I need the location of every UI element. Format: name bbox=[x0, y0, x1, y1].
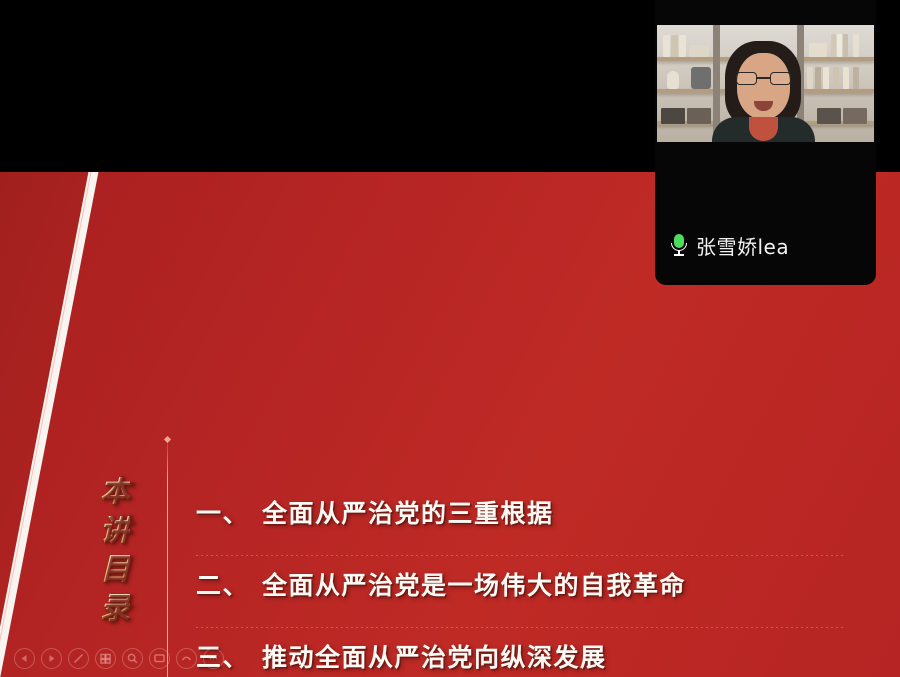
microphone-icon bbox=[671, 234, 687, 256]
book bbox=[853, 34, 859, 57]
participant-name-bar: 张雪娇lea bbox=[655, 205, 876, 285]
book bbox=[679, 35, 686, 57]
glasses-lens-right bbox=[770, 72, 791, 85]
participant-name: 张雪娇lea bbox=[696, 231, 789, 260]
toc-item-3: 三、推动全面从严治党向纵深发展 bbox=[196, 638, 607, 674]
vertical-title-char-1: 本 bbox=[100, 477, 130, 507]
slide-toolbar[interactable] bbox=[14, 648, 224, 669]
list-item: 二、全面从严治党是一场伟大的自我革命 bbox=[196, 562, 856, 634]
slide-vertical-title: 本 讲 目 录 bbox=[88, 477, 142, 624]
storage-box bbox=[661, 108, 685, 124]
participant-video-panel[interactable]: 张雪娇lea bbox=[655, 0, 876, 285]
book bbox=[823, 67, 829, 89]
list-item: 三、推动全面从严治党向纵深发展 bbox=[196, 634, 856, 677]
list-item: 一、全面从严治党的三重根据 bbox=[196, 490, 856, 562]
book bbox=[671, 35, 678, 57]
book bbox=[843, 34, 848, 57]
book bbox=[843, 67, 849, 89]
divider-bar bbox=[167, 441, 168, 677]
screen-icon[interactable] bbox=[149, 648, 170, 669]
vase bbox=[667, 71, 679, 89]
glasses-lens-left bbox=[736, 72, 757, 85]
vertical-divider bbox=[166, 435, 169, 677]
eyeglasses-icon bbox=[736, 72, 791, 85]
toc-item-3-text: 推动全面从严治党向纵深发展 bbox=[262, 643, 607, 672]
storage-box bbox=[843, 108, 867, 124]
book bbox=[663, 35, 670, 57]
storage-box bbox=[687, 108, 711, 124]
toc-item-2-number: 二、 bbox=[196, 571, 249, 600]
table-of-contents: 一、全面从严治党的三重根据 二、全面从严治党是一场伟大的自我革命 三、推动全面从… bbox=[196, 490, 856, 677]
book bbox=[853, 67, 859, 89]
book bbox=[689, 45, 709, 57]
book bbox=[809, 43, 827, 57]
book bbox=[815, 67, 821, 89]
pen-icon[interactable] bbox=[68, 648, 89, 669]
toc-separator bbox=[196, 627, 846, 628]
magnifier-icon[interactable] bbox=[122, 648, 143, 669]
toc-item-1: 一、全面从严治党的三重根据 bbox=[196, 494, 554, 530]
toc-item-1-text: 全面从严治党的三重根据 bbox=[262, 499, 554, 528]
grid-icon[interactable] bbox=[95, 648, 116, 669]
vertical-title-char-3: 目 bbox=[100, 555, 130, 585]
webcam-video-feed bbox=[657, 25, 874, 142]
play-button[interactable] bbox=[41, 648, 62, 669]
book bbox=[831, 34, 836, 57]
book bbox=[833, 67, 839, 89]
toc-item-2: 二、全面从严治党是一场伟大的自我革命 bbox=[196, 566, 686, 602]
pointer-icon[interactable] bbox=[176, 648, 197, 669]
mic-base bbox=[674, 254, 684, 256]
book bbox=[837, 34, 842, 57]
toc-item-2-text: 全面从严治党是一场伟大的自我革命 bbox=[262, 571, 686, 600]
glasses-bridge bbox=[757, 77, 770, 79]
screen-share-view: 本 讲 目 录 一、全面从严治党的三重根据 二、全面从严治党是一场伟大的自我革命… bbox=[0, 0, 900, 677]
book bbox=[807, 67, 813, 89]
previous-slide-button[interactable] bbox=[14, 648, 35, 669]
toc-separator bbox=[196, 555, 846, 556]
vertical-title-char-4: 录 bbox=[100, 594, 130, 624]
storage-box bbox=[817, 108, 841, 124]
toc-item-1-number: 一、 bbox=[196, 499, 249, 528]
vertical-title-char-2: 讲 bbox=[100, 516, 130, 546]
lamp bbox=[691, 67, 711, 89]
ellipsis-icon[interactable] bbox=[203, 648, 224, 669]
